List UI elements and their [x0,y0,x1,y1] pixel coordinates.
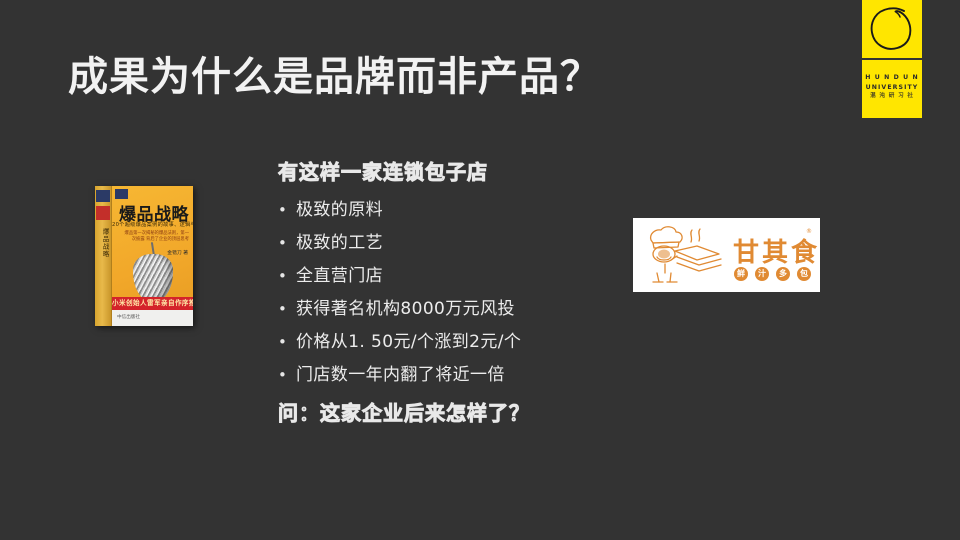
list-item-label: 极致的原料 [296,194,383,227]
book-author: 金错刀 著 [167,249,188,256]
book-spine-block-red [96,206,110,220]
list-item-label: 极致的工艺 [296,227,383,260]
list-item-label: 全直营门店 [296,260,383,293]
registered-mark-icon: ® [806,228,812,235]
book-spine-block-blue [96,190,110,202]
brand-line-2: UNIVERSITY [862,83,922,93]
bullet-icon: • [278,293,296,326]
chef-carrying-buns-icon [641,224,727,286]
seal-icon: 鲜 [734,267,748,281]
content-headline: 有这样一家连锁包子店 [278,158,608,186]
list-item: • 极致的工艺 [278,227,608,260]
list-item-label: 门店数一年内翻了将近一倍 [296,359,505,392]
list-item-label: 获得著名机构8000万元风投 [296,293,515,326]
bullet-icon: • [278,260,296,293]
list-item: • 极致的原料 [278,194,608,227]
brand-line-3: 混 沌 研 习 社 [862,92,922,102]
content-question: 问：这家企业后来怎样了？ [278,399,608,427]
book-corner-tag [115,189,128,199]
hundun-circle-mark [862,0,922,58]
bullet-icon: • [278,227,296,260]
book-spine: 爆品战略 [95,186,112,326]
book-spine-title: 爆品战略 [98,228,109,258]
list-item: • 价格从1. 50元/个涨到2元/个 [278,326,608,359]
book-subtitle: 20个超级爆品案例的故事、逻辑与方法 [112,221,189,228]
book-cover-image: 爆品战略 爆品战略 20个超级爆品案例的故事、逻辑与方法 爆品第一次揭秘的爆品法… [95,186,193,326]
page-title: 成果为什么是品牌而非产品？ [68,52,601,102]
bullet-icon: • [278,326,296,359]
hundun-wordmark: H U N D U N UNIVERSITY 混 沌 研 习 社 [862,60,922,118]
shop-logo-image: 甘其食 ® 鲜 汁 多 包 [633,218,820,292]
list-item: • 全直营门店 [278,260,608,293]
book-publisher: 中信出版社 [112,310,193,326]
slide-canvas: H U N D U N UNIVERSITY 混 沌 研 习 社 成果为什么是品… [0,0,960,540]
content-block: 有这样一家连锁包子店 • 极致的原料 • 极致的工艺 • 全直营门店 • 获得著… [278,158,608,427]
book-blurb: 爆品第一次揭秘的爆品法则，第一次披露 背后了企业的顶层思考 [122,231,189,243]
book-band-text: 小米创始人雷军亲自作序推荐！ [112,297,193,310]
list-item-label: 价格从1. 50元/个涨到2元/个 [296,326,521,359]
seal-icon: 汁 [755,267,769,281]
book-art-grenade [133,254,173,302]
bullet-icon: • [278,359,296,392]
shop-brand-name: 甘其食 [733,232,820,269]
brand-logo: H U N D U N UNIVERSITY 混 沌 研 习 社 [862,0,922,118]
shop-seal-row: 鲜 汁 多 包 [734,267,811,281]
bullet-icon: • [278,194,296,227]
hand-drawn-circle-icon [862,0,922,58]
seal-icon: 多 [776,267,790,281]
list-item: • 获得著名机构8000万元风投 [278,293,608,326]
book-front-cover: 爆品战略 20个超级爆品案例的故事、逻辑与方法 爆品第一次揭秘的爆品法则，第一次… [112,186,193,326]
seal-icon: 包 [797,267,811,281]
brand-line-1: H U N D U N [862,73,922,83]
list-item: • 门店数一年内翻了将近一倍 [278,359,608,392]
